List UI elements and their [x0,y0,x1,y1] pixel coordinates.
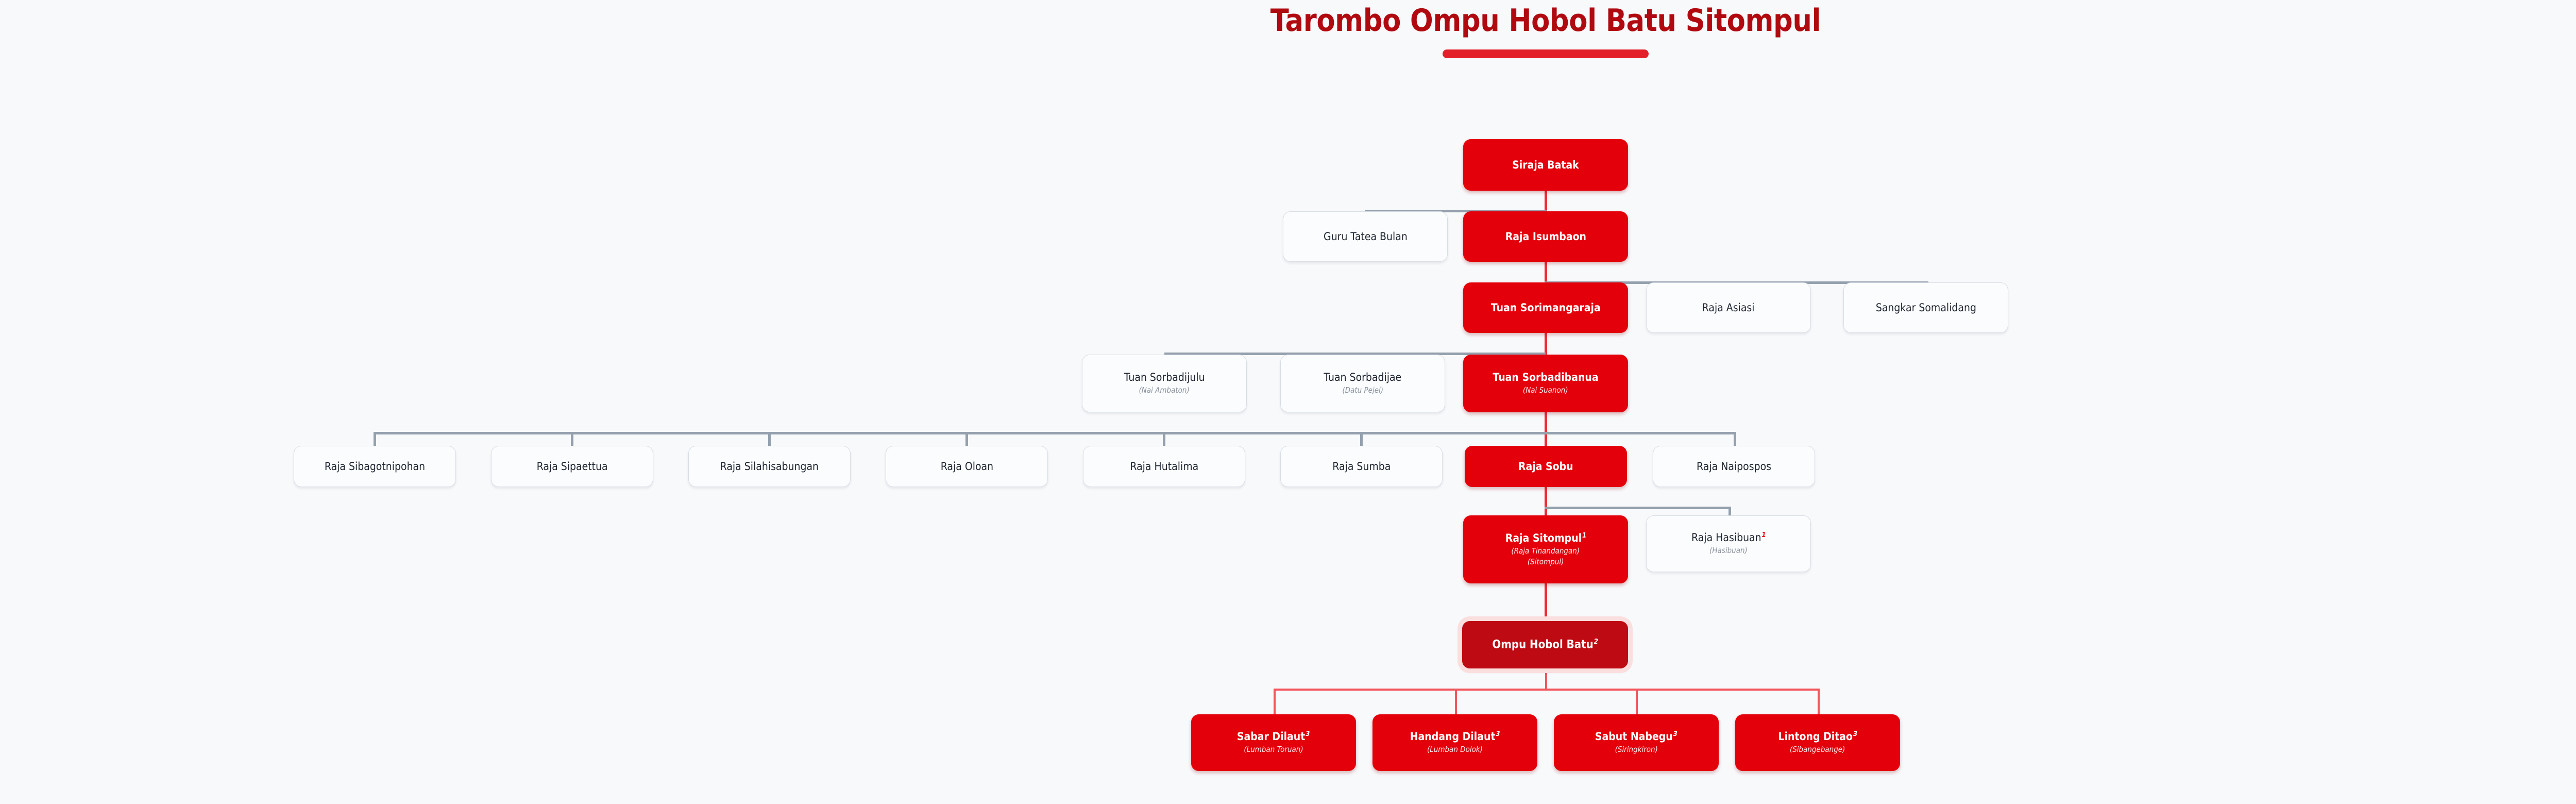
node-label: Sangkar Somalidang [1875,301,1976,314]
node-superscript: 3 [1496,730,1500,738]
node-label: Raja Isumbaon [1505,230,1586,243]
link-sibagotnipohan-drop [374,432,376,447]
link-ompu-hobol-batu-down [1545,669,1547,690]
node-label: Lintong Ditao3 [1778,730,1857,743]
node-raja-hutalima[interactable]: Raja Hutalima [1083,446,1245,487]
node-sabar-dilaut[interactable]: Sabar Dilaut3 (Lumban Toruan) [1191,714,1356,771]
link-sumba-drop [1360,432,1363,447]
node-subtitle: (Raja Tinandangan) [1512,546,1580,556]
node-label: Raja Sipaettua [537,460,608,473]
node-label: Tuan Sorbadijulu [1124,371,1205,383]
node-label: Tuan Sorbadijae [1324,371,1402,383]
node-raja-isumbaon[interactable]: Raja Isumbaon [1463,211,1628,262]
node-label: Siraja Batak [1512,159,1579,171]
node-raja-sumba[interactable]: Raja Sumba [1280,446,1443,487]
link-gen8-bus [1274,689,1820,691]
tarombo-diagram: Tarombo Ompu Hobol Batu Sitompul [0,0,2576,804]
node-tuan-sorbadijulu[interactable]: Tuan Sorbadijulu (Nai Ambaton) [1082,355,1247,412]
link-naipospos-drop [1734,432,1736,447]
node-label-text: Lintong Ditao [1778,730,1853,743]
node-tuan-sorimangaraja[interactable]: Tuan Sorimangaraja [1463,282,1628,333]
node-superscript: 3 [1673,730,1677,738]
node-label: Sabar Dilaut3 [1237,730,1310,743]
node-subtitle: (Sibangebange) [1790,744,1845,755]
node-superscript: 1 [1582,532,1586,540]
node-tuan-sorbadijae[interactable]: Tuan Sorbadijae (Datu Pejel) [1280,355,1445,412]
node-raja-sitompul[interactable]: Raja Sitompul1 (Raja Tinandangan) (Sitom… [1463,515,1628,583]
node-subtitle: (Hasibuan) [1709,545,1748,556]
node-handang-dilaut[interactable]: Handang Dilaut3 (Lumban Dolok) [1372,714,1537,771]
node-superscript: 3 [1306,730,1310,738]
node-label: Ompu Hobol Batu2 [1492,638,1598,651]
node-label: Tuan Sorimangaraja [1491,301,1601,314]
link-handang-dilaut-drop [1455,689,1457,715]
node-label: Tuan Sorbadibanua [1493,371,1598,383]
node-raja-hasibuan[interactable]: Raja Hasibuan1 (Hasibuan) [1646,515,1811,572]
node-guru-tatea-bulan[interactable]: Guru Tatea Bulan [1283,211,1448,262]
node-tuan-sorbadibanua[interactable]: Tuan Sorbadibanua (Nai Suanon) [1463,355,1628,412]
node-subtitle: (Datu Pejel) [1342,385,1383,395]
node-label: Guru Tatea Bulan [1324,230,1408,243]
node-label-text: Raja Hasibuan [1691,531,1761,544]
node-label: Raja Oloan [940,460,993,473]
node-label: Raja Hutalima [1130,460,1198,473]
node-subtitle: (Nai Suanon) [1523,385,1568,395]
node-subtitle: (Nai Ambaton) [1139,385,1190,395]
node-sangkar-somalidang[interactable]: Sangkar Somalidang [1843,282,2008,333]
node-siraja-batak[interactable]: Siraja Batak [1463,139,1628,191]
node-raja-sobu[interactable]: Raja Sobu [1465,446,1627,487]
node-ompu-hobol-batu[interactable]: Ompu Hobol Batu2 [1462,621,1628,668]
node-label: Raja Sibagotnipohan [325,460,425,473]
node-label-text: Ompu Hobol Batu [1492,639,1593,651]
node-label: Raja Sumba [1332,460,1391,473]
node-superscript: 1 [1761,531,1766,539]
link-sipaettua-drop [571,432,573,447]
title-underline-rule [1443,49,1649,58]
link-hutalima-drop [1163,432,1165,447]
node-label: Raja Silahisabungan [720,460,819,473]
node-subtitle: (Lumban Dolok) [1427,744,1483,755]
node-label-text: Sabar Dilaut [1237,730,1305,743]
node-subtitle: (Siringkiron) [1615,744,1657,755]
node-raja-sibagotnipohan[interactable]: Raja Sibagotnipohan [294,446,456,487]
node-lintong-ditao[interactable]: Lintong Ditao3 (Sibangebange) [1735,714,1900,771]
link-gen5-bus [374,432,1734,434]
node-label: Handang Dilaut3 [1410,730,1500,743]
node-subtitle-secondary: (Sitompul) [1528,557,1564,567]
link-sorbadibanua-down [1545,412,1547,447]
node-label: Raja Sitompul1 [1505,532,1586,544]
node-superscript: 3 [1853,730,1857,738]
node-sabut-nabegu[interactable]: Sabut Nabegu3 (Siringkiron) [1554,714,1719,771]
page-title: Tarombo Ompu Hobol Batu Sitompul [185,5,2576,36]
node-label: Raja Naipospos [1697,460,1771,473]
link-sabut-nabegu-drop [1636,689,1638,715]
node-label: Raja Hasibuan1 [1691,531,1766,544]
link-oloan-drop [965,432,968,447]
link-lintong-ditao-drop [1818,689,1820,715]
title-block: Tarombo Ompu Hobol Batu Sitompul [0,5,2576,58]
node-raja-naipospos[interactable]: Raja Naipospos [1653,446,1815,487]
link-sabar-dilaut-drop [1274,689,1276,715]
link-gen6-bus [1545,507,1730,509]
node-superscript: 2 [1594,638,1598,646]
node-raja-silahisabungan[interactable]: Raja Silahisabungan [688,446,851,487]
link-silahisabungan-drop [768,432,771,447]
node-label: Raja Asiasi [1702,301,1755,314]
node-raja-sipaettua[interactable]: Raja Sipaettua [491,446,653,487]
node-raja-oloan[interactable]: Raja Oloan [886,446,1048,487]
node-subtitle: (Lumban Toruan) [1244,744,1303,755]
node-label: Sabut Nabegu3 [1595,730,1677,743]
node-raja-asiasi[interactable]: Raja Asiasi [1646,282,1811,333]
node-label-text: Sabut Nabegu [1595,730,1673,743]
node-label: Raja Sobu [1518,460,1573,473]
node-label-text: Handang Dilaut [1410,730,1496,743]
node-label-text: Raja Sitompul [1505,532,1581,544]
